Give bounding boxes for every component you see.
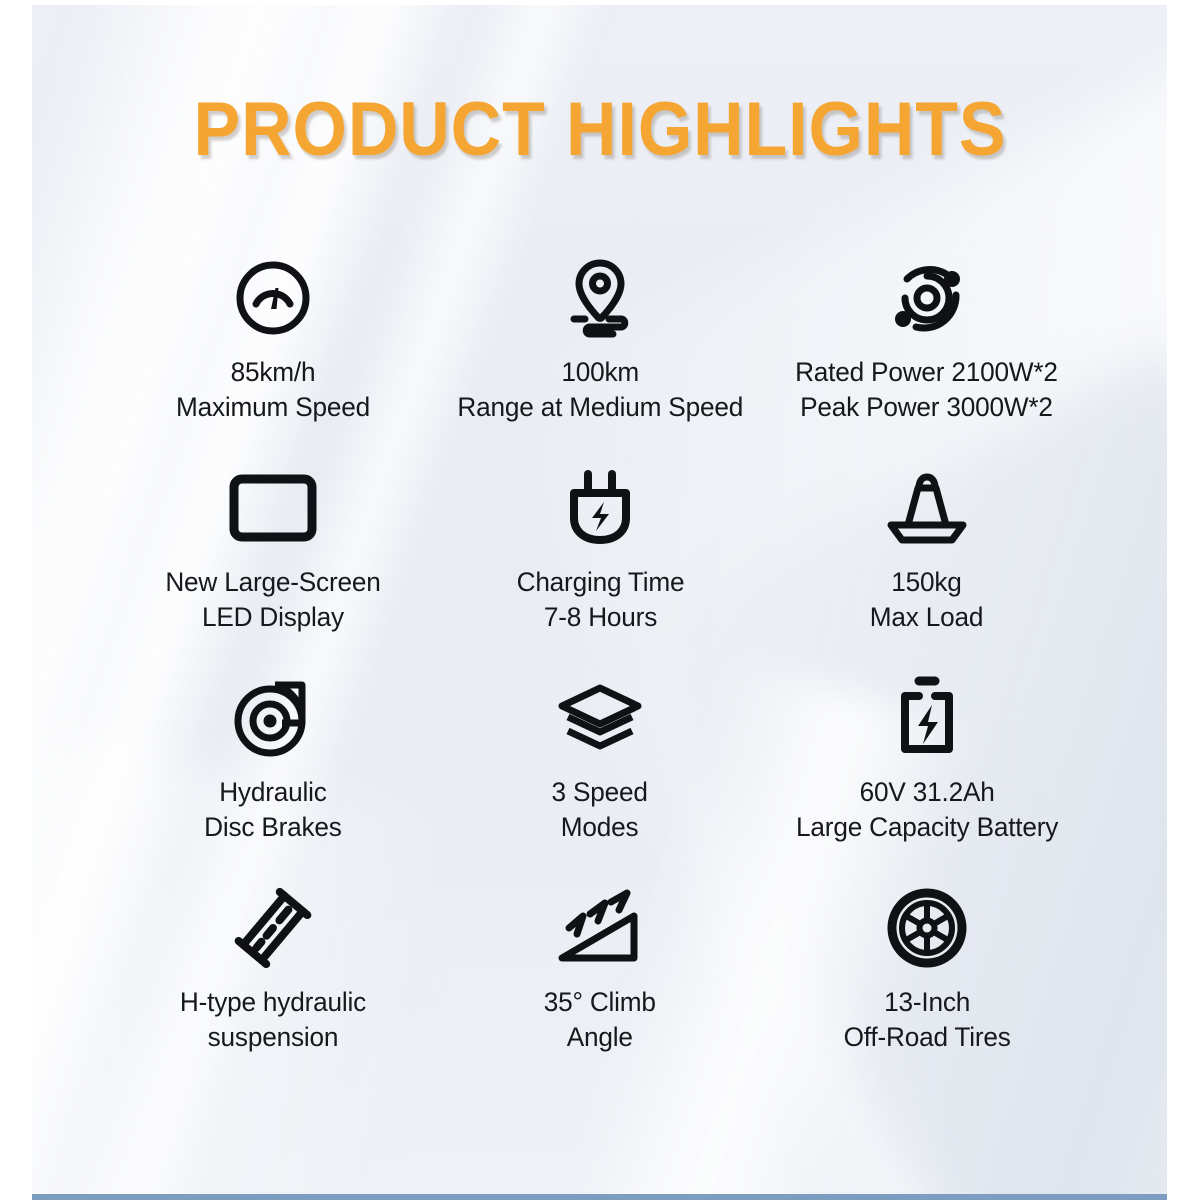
feature-label: Charging Time 7-8 Hours: [516, 565, 684, 634]
feature-label: 85km/h Maximum Speed: [176, 355, 370, 424]
feature-line-1: 60V 31.2Ah: [859, 777, 994, 807]
feature-item-suspension: H-type hydraulic suspension: [110, 885, 437, 1095]
feature-label: 35° Climb Angle: [544, 985, 656, 1054]
feature-line-1: 13-Inch: [884, 987, 970, 1017]
feature-line-2: Modes: [552, 810, 648, 845]
feature-line-2: Disc Brakes: [205, 810, 343, 845]
feature-item-climb-angle: 35° Climb Angle: [437, 885, 764, 1095]
feature-label: New Large-Screen LED Display: [166, 565, 381, 634]
feature-line-2: Max Load: [870, 600, 983, 635]
speedometer-icon: [231, 255, 315, 341]
feature-label: Hydraulic Disc Brakes: [205, 775, 343, 844]
feature-line-1: 150kg: [891, 567, 961, 597]
feature-item-tires: 13-Inch Off-Road Tires: [763, 885, 1090, 1095]
feature-label: 13-Inch Off-Road Tires: [843, 985, 1010, 1054]
feature-item-led-display: New Large-Screen LED Display: [110, 465, 437, 675]
feature-line-2: Maximum Speed: [176, 390, 370, 425]
feature-line-1: H-type hydraulic: [180, 987, 366, 1017]
feature-line-1: Charging Time: [516, 567, 684, 597]
feature-item-disc-brakes: Hydraulic Disc Brakes: [110, 675, 437, 885]
tire-wheel-icon: [884, 885, 970, 971]
display-screen-icon: [227, 465, 319, 551]
feature-line-1: New Large-Screen: [166, 567, 381, 597]
features-grid: 85km/h Maximum Speed 100km Range at Medi…: [110, 255, 1090, 1095]
feature-item-max-load: 150kg Max Load: [763, 465, 1090, 675]
bottom-accent-bar: [32, 1194, 1167, 1200]
climb-incline-icon: [552, 885, 648, 971]
feature-line-2: Angle: [544, 1020, 656, 1055]
feature-item-maximum-speed: 85km/h Maximum Speed: [110, 255, 437, 465]
brake-disc-icon: [230, 675, 316, 761]
battery-bolt-icon: [893, 675, 961, 761]
feature-item-charging-time: Charging Time 7-8 Hours: [437, 465, 764, 675]
feature-line-2: Off-Road Tires: [843, 1020, 1010, 1055]
feature-line-2: suspension: [180, 1020, 366, 1055]
feature-line-2: Large Capacity Battery: [796, 810, 1058, 845]
page-title: PRODUCT HIGHLIGHTS: [48, 86, 1152, 173]
feature-label: 100km Range at Medium Speed: [457, 355, 743, 424]
feature-item-power: Rated Power 2100W*2 Peak Power 3000W*2: [763, 255, 1090, 465]
layers-stack-icon: [554, 675, 646, 761]
feature-line-1: 85km/h: [231, 357, 316, 387]
map-pin-route-icon: [555, 255, 645, 341]
feature-line-1: Hydraulic: [220, 777, 327, 807]
feature-label: 3 Speed Modes: [552, 775, 648, 844]
feature-line-2: 7-8 Hours: [516, 600, 684, 635]
feature-line-1: 100km: [561, 357, 639, 387]
weight-load-icon: [882, 465, 972, 551]
feature-line-2: LED Display: [166, 600, 381, 635]
feature-item-range: 100km Range at Medium Speed: [437, 255, 764, 465]
feature-line-1: 35° Climb: [544, 987, 656, 1017]
charging-plug-icon: [563, 465, 637, 551]
feature-label: 60V 31.2Ah Large Capacity Battery: [796, 775, 1058, 844]
feature-line-2: Peak Power 3000W*2: [795, 390, 1058, 425]
feature-item-battery: 60V 31.2Ah Large Capacity Battery: [763, 675, 1090, 885]
feature-item-speed-modes: 3 Speed Modes: [437, 675, 764, 885]
feature-label: 150kg Max Load: [870, 565, 983, 634]
feature-line-1: 3 Speed: [552, 777, 648, 807]
motor-power-orbit-icon: [886, 255, 968, 341]
product-highlights-poster: PRODUCT HIGHLIGHTS 85km/h Maximum Speed: [0, 0, 1200, 1200]
feature-line-2: Range at Medium Speed: [457, 390, 743, 425]
feature-label: H-type hydraulic suspension: [180, 985, 366, 1054]
feature-line-1: Rated Power 2100W*2: [795, 357, 1058, 387]
feature-label: Rated Power 2100W*2 Peak Power 3000W*2: [795, 355, 1058, 424]
suspension-spring-icon: [227, 885, 319, 971]
